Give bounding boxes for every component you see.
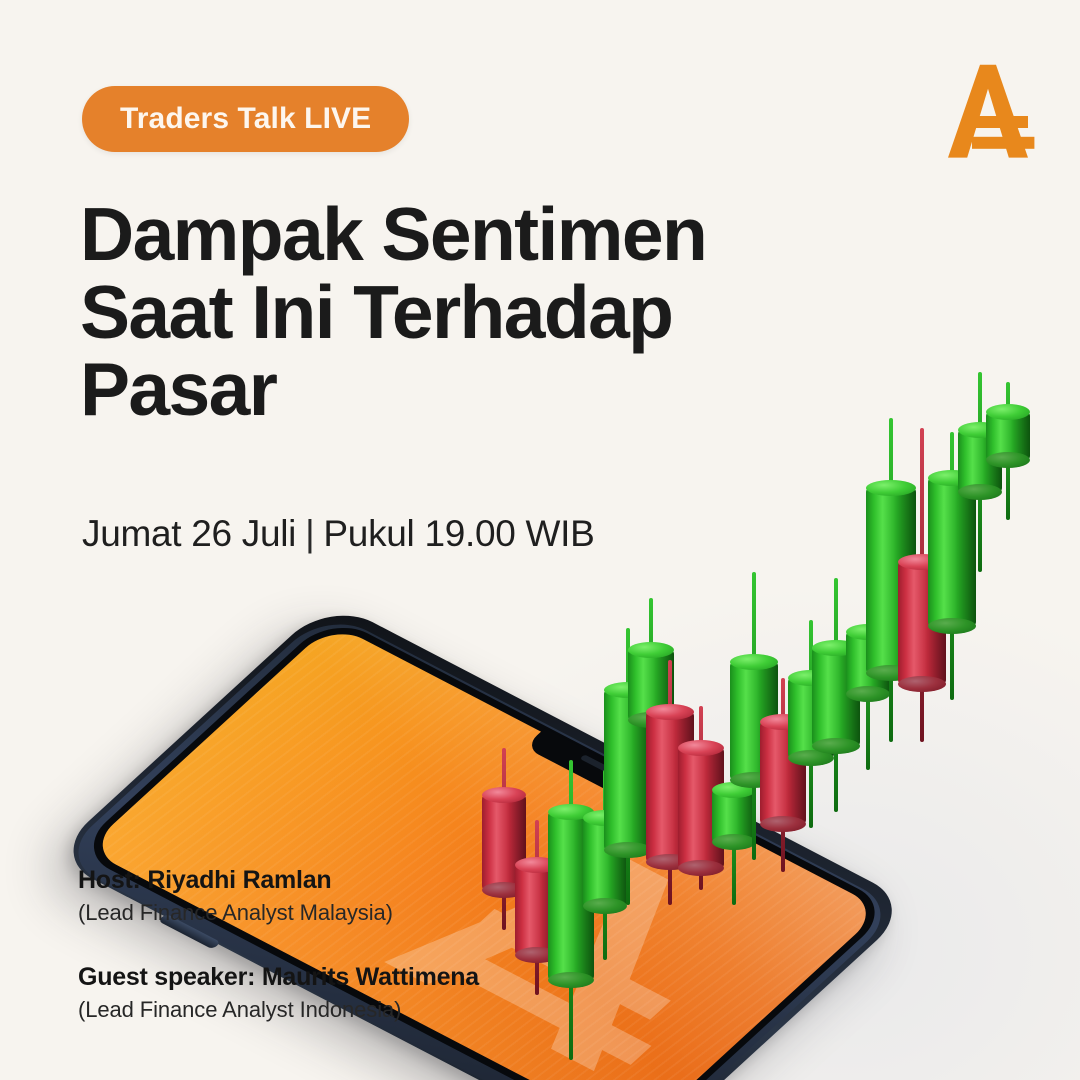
- event-datetime: Jumat 26 Juli|Pukul 19.00 WIB: [82, 513, 595, 555]
- headline-line-2: Saat Ini Terhadap: [80, 274, 800, 352]
- live-badge: Traders Talk LIVE: [82, 86, 409, 152]
- text-layer: Traders Talk LIVE Dampak Sentimen Saat I…: [0, 0, 1080, 1080]
- page-title: Dampak Sentimen Saat Ini Terhadap Pasar: [80, 196, 800, 429]
- live-badge-label: Traders Talk LIVE: [120, 102, 371, 136]
- speaker-credits: Host: Riyadhi Ramlan (Lead Finance Analy…: [78, 866, 479, 1023]
- credit-host-name: Host: Riyadhi Ramlan: [78, 866, 479, 895]
- credit-host-role: (Lead Finance Analyst Malaysia): [78, 900, 479, 926]
- poster-canvas: Traders Talk LIVE Dampak Sentimen Saat I…: [0, 0, 1080, 1080]
- headline-line-3: Pasar: [80, 351, 800, 429]
- credit-guest-role: (Lead Finance Analyst Indonesia): [78, 997, 479, 1023]
- datetime-separator: |: [296, 513, 323, 554]
- credit-guest-name: Guest speaker: Maurits Wattimena: [78, 963, 479, 992]
- event-date: Jumat 26 Juli: [82, 513, 296, 554]
- credit-host: Host: Riyadhi Ramlan (Lead Finance Analy…: [78, 866, 479, 926]
- headline-line-1: Dampak Sentimen: [80, 196, 800, 274]
- logo-a-icon: [940, 60, 1036, 164]
- event-time: Pukul 19.00 WIB: [323, 513, 594, 554]
- credit-guest: Guest speaker: Maurits Wattimena (Lead F…: [78, 963, 479, 1023]
